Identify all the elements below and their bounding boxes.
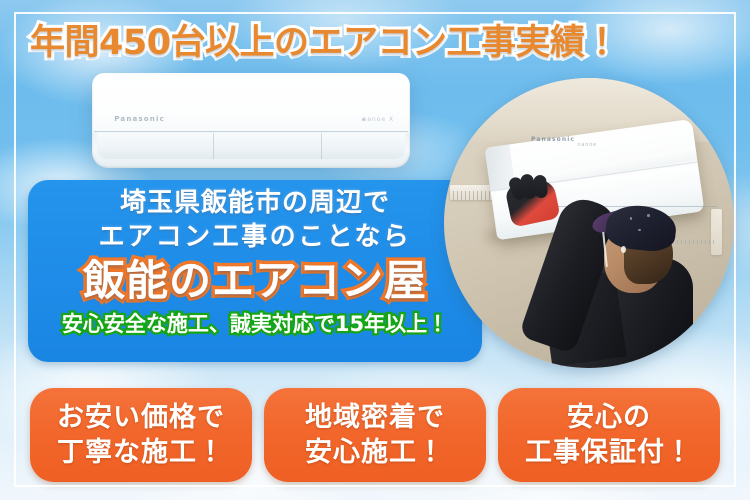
- badge-line-two: 工事保証付！: [525, 436, 693, 470]
- photo-cap-eyelet: [630, 217, 633, 220]
- ac-unit-vane-divider: [213, 133, 214, 160]
- air-conditioner-product-image: Panasonic nanoe X: [92, 73, 410, 168]
- photo-ac-brand-label: Panasonic: [531, 136, 575, 143]
- feature-badge-local[interactable]: 地域密着で 安心施工！: [264, 388, 486, 482]
- ac-unit-vane-divider: [321, 133, 322, 160]
- photo-worker-finger: [533, 175, 548, 199]
- feature-badge-price[interactable]: お安い価格で 丁寧な施工！: [30, 388, 252, 482]
- technician-photo: Panasonic nanoe: [444, 78, 734, 368]
- badge-line-one: 安心の: [567, 401, 651, 435]
- feature-badge-list: お安い価格で 丁寧な施工！ 地域密着で 安心施工！ 安心の 工事保証付！: [30, 388, 720, 482]
- message-panel: [28, 180, 482, 362]
- feature-badge-warranty[interactable]: 安心の 工事保証付！: [498, 388, 720, 482]
- ac-unit-vane: [97, 133, 405, 160]
- ac-unit-seam: [94, 131, 408, 132]
- photo-pipe-cover-lines: [453, 191, 491, 200]
- photo-ac-model-label: nanoe: [577, 142, 597, 148]
- badge-line-one: お安い価格で: [57, 401, 225, 435]
- badge-line-two: 安心施工！: [305, 436, 445, 470]
- photo-cap-eyelet: [647, 214, 650, 217]
- advertisement-banner: 年間450台以上のエアコン工事実績！ Panasonic nanoe X Pan…: [0, 0, 750, 500]
- badge-line-two: 丁寧な施工！: [57, 436, 225, 470]
- photo-ac-button: [453, 130, 464, 141]
- photo-wall-switch: [711, 209, 723, 255]
- photo-worker-earloop: [621, 246, 626, 253]
- badge-line-one: 地域密着で: [305, 401, 445, 435]
- ac-model-label: nanoe X: [362, 116, 394, 123]
- ac-brand-label: Panasonic: [114, 115, 165, 123]
- page-title: 年間450台以上のエアコン工事実績！: [30, 14, 619, 65]
